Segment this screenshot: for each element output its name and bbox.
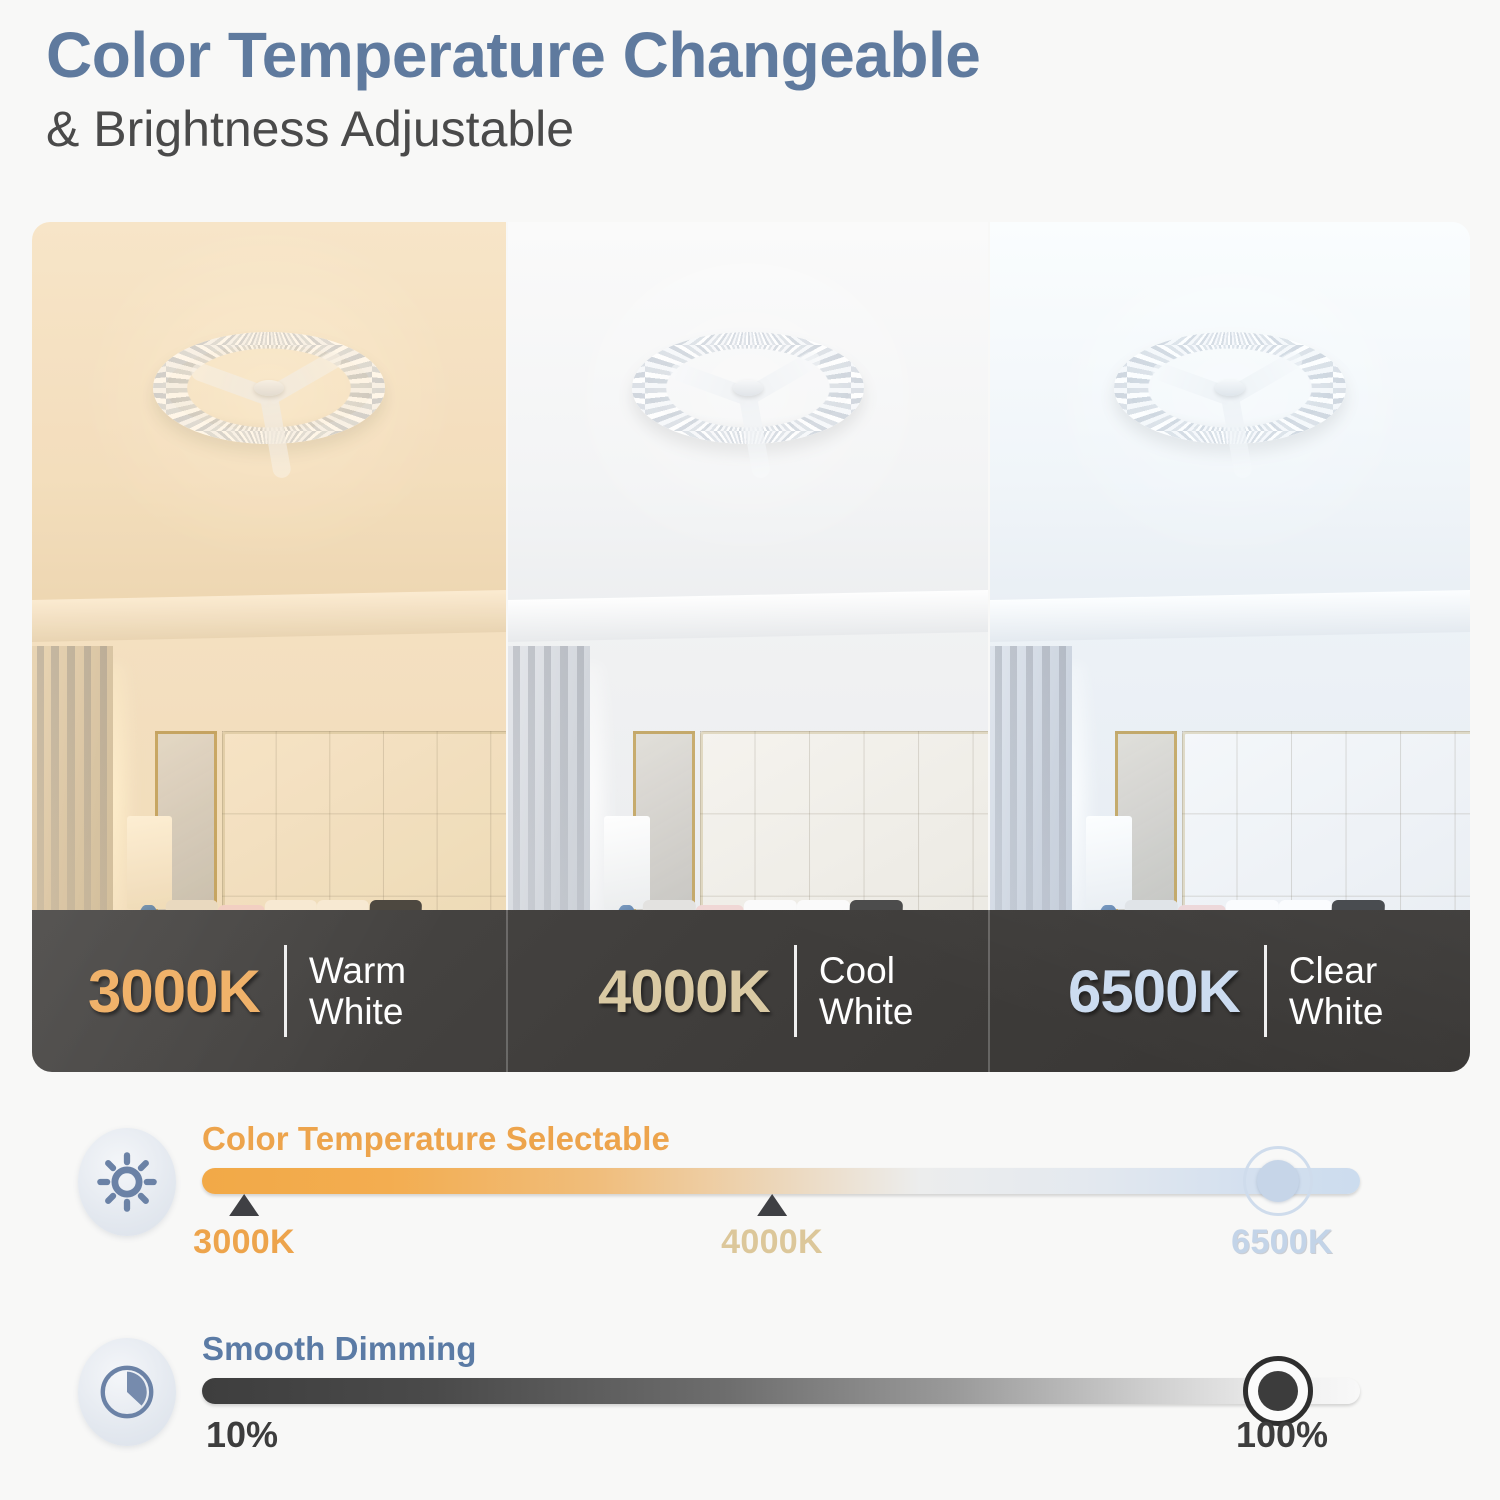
page-title: Color Temperature Changeable xyxy=(46,22,980,89)
dimming-min-label: 10% xyxy=(206,1414,278,1456)
tick-label-6500k: 6500K xyxy=(1231,1223,1333,1262)
lamp-shade xyxy=(1086,816,1132,909)
sun-icon-badge xyxy=(78,1128,176,1236)
tick-label-4000k: 4000K xyxy=(721,1223,823,1262)
dimmer-dial-icon xyxy=(96,1361,158,1423)
sun-icon xyxy=(96,1151,158,1213)
infographic-page: Color Temperature Changeable & Brightnes… xyxy=(0,0,1500,1500)
kelvin-name-warm: Warm White xyxy=(309,950,406,1033)
kelvin-cell-cool: 4000K Cool White xyxy=(506,910,988,1072)
kelvin-value-clear: 6500K xyxy=(1068,957,1240,1026)
dimmer-dial-icon-badge xyxy=(78,1338,176,1446)
kelvin-value-cool: 4000K xyxy=(598,957,770,1026)
color-temperature-track[interactable] xyxy=(202,1168,1360,1194)
kelvin-name-line2: White xyxy=(1289,991,1384,1032)
color-temperature-ticks: 3000K 4000K 6500K xyxy=(202,1194,1472,1290)
divider xyxy=(284,945,287,1037)
kelvin-cell-clear: 6500K Clear White xyxy=(988,910,1470,1072)
kelvin-name-line2: White xyxy=(819,991,914,1032)
kelvin-name-line1: Cool xyxy=(819,950,914,991)
dimming-body: Smooth Dimming 10% 100% xyxy=(202,1330,1472,1484)
color-temperature-body: Color Temperature Selectable 3000K 4000K… xyxy=(202,1120,1472,1290)
tick-3000k[interactable]: 3000K xyxy=(193,1194,295,1262)
ceiling-fan-fixture xyxy=(153,332,385,444)
ceiling-fan-fixture xyxy=(1114,332,1346,444)
page-subtitle: & Brightness Adjustable xyxy=(46,101,980,159)
dimming-max-label: 100% xyxy=(1236,1414,1328,1456)
tick-label-3000k: 3000K xyxy=(193,1223,295,1262)
kelvin-label-bar: 3000K Warm White 4000K Cool White 6500K xyxy=(32,910,1470,1072)
kelvin-name-cool: Cool White xyxy=(819,950,914,1033)
dimming-range-labels: 10% 100% xyxy=(202,1414,1472,1484)
dimming-track[interactable] xyxy=(202,1378,1360,1404)
triangle-marker-icon xyxy=(757,1194,787,1216)
triangle-marker-icon xyxy=(229,1194,259,1216)
kelvin-value-warm: 3000K xyxy=(88,957,260,1026)
tick-4000k[interactable]: 4000K xyxy=(721,1194,823,1262)
ceiling-fan-fixture xyxy=(632,332,864,444)
lamp-shade xyxy=(127,816,172,909)
divider xyxy=(1264,945,1267,1037)
kelvin-name-line2: White xyxy=(309,991,406,1032)
kelvin-name-line1: Clear xyxy=(1289,950,1384,991)
divider xyxy=(794,945,797,1037)
kelvin-name-clear: Clear White xyxy=(1289,950,1384,1033)
kelvin-name-line1: Warm xyxy=(309,950,406,991)
kelvin-cell-warm: 3000K Warm White xyxy=(32,910,506,1072)
tick-6500k[interactable]: 6500K xyxy=(1231,1223,1333,1262)
header-block: Color Temperature Changeable & Brightnes… xyxy=(46,22,980,159)
lamp-shade xyxy=(604,816,650,909)
